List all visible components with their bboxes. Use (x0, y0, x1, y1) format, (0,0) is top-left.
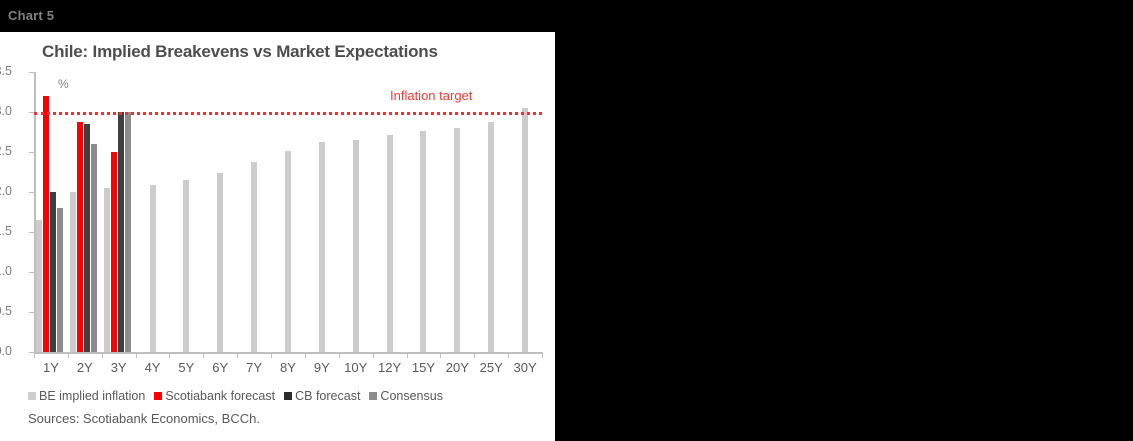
inflation-target-line (34, 112, 542, 115)
bar (111, 152, 117, 352)
bar (36, 220, 42, 352)
x-axis-tick (169, 352, 170, 358)
legend-item: Scotiabank forecast (154, 389, 275, 403)
x-axis-tick (68, 352, 69, 358)
y-axis-tick-label: 2.0 (0, 184, 12, 198)
legend-label: CB forecast (295, 389, 360, 403)
x-axis-tick-label: 9Y (305, 360, 339, 375)
x-axis-tick (440, 352, 441, 358)
y-axis-tick-label: 1.5 (0, 224, 12, 238)
x-axis-tick-label: 5Y (169, 360, 203, 375)
chart-panel: Chile: Implied Breakevens vs Market Expe… (0, 32, 555, 441)
bar (57, 208, 63, 352)
bar (91, 144, 97, 352)
legend-item: Consensus (369, 389, 443, 403)
x-axis-tick (407, 352, 408, 358)
y-axis-tick-label: 1.0 (0, 264, 12, 278)
figure-label: Chart 5 (8, 8, 54, 23)
x-axis-tick (373, 352, 374, 358)
legend-swatch-icon (369, 392, 377, 400)
y-axis-tick-label: 2.5 (0, 144, 12, 158)
bar (420, 131, 426, 352)
x-axis-tick (34, 352, 35, 358)
legend-item: BE implied inflation (28, 389, 145, 403)
x-axis-tick (508, 352, 509, 358)
x-axis-tick (271, 352, 272, 358)
x-axis-line (34, 352, 542, 354)
x-axis-tick-label: 25Y (474, 360, 508, 375)
bar (454, 128, 460, 352)
legend-label: Consensus (380, 389, 443, 403)
legend-label: Scotiabank forecast (165, 389, 275, 403)
x-axis-tick-label: 4Y (136, 360, 170, 375)
plot-area: 1Y2Y3Y4Y5Y6Y7Y8Y9Y10Y12Y15Y20Y25Y30Y (34, 72, 542, 352)
bar (70, 192, 76, 352)
y-axis-tick-label: 3.0 (0, 104, 12, 118)
inflation-target-annotation: Inflation target (390, 88, 472, 103)
bar (50, 192, 56, 352)
bar (43, 96, 49, 352)
x-axis-tick (102, 352, 103, 358)
legend-swatch-icon (28, 392, 36, 400)
x-axis-tick-label: 1Y (34, 360, 68, 375)
x-axis-tick-label: 6Y (203, 360, 237, 375)
bar (150, 185, 156, 352)
bar (319, 142, 325, 352)
legend-label: BE implied inflation (39, 389, 145, 403)
bar (125, 112, 131, 352)
x-axis-tick (136, 352, 137, 358)
legend-swatch-icon (284, 392, 292, 400)
x-axis-tick (339, 352, 340, 358)
bar (183, 180, 189, 352)
chart-title: Chile: Implied Breakevens vs Market Expe… (42, 42, 542, 62)
bar (522, 108, 528, 352)
chart-legend: BE implied inflationScotiabank forecastC… (28, 389, 548, 403)
source-note: Sources: Scotiabank Economics, BCCh. (28, 411, 260, 426)
x-axis-tick-label: 7Y (237, 360, 271, 375)
x-axis-tick (203, 352, 204, 358)
x-axis-tick-label: 12Y (373, 360, 407, 375)
bar (251, 162, 257, 352)
x-axis-tick-label: 20Y (440, 360, 474, 375)
x-axis-tick-label: 10Y (339, 360, 373, 375)
legend-item: CB forecast (284, 389, 360, 403)
bar (353, 140, 359, 352)
x-axis-tick-label: 8Y (271, 360, 305, 375)
x-axis-tick-label: 3Y (102, 360, 136, 375)
legend-swatch-icon (154, 392, 162, 400)
bar (84, 124, 90, 352)
x-axis-tick (237, 352, 238, 358)
x-axis-tick-label: 2Y (68, 360, 102, 375)
bar (118, 112, 124, 352)
x-axis-tick (305, 352, 306, 358)
bar (217, 173, 223, 352)
bar (104, 188, 110, 352)
x-axis-tick (542, 352, 543, 358)
bar (387, 135, 393, 352)
x-axis-tick-label: 15Y (407, 360, 441, 375)
bar (488, 122, 494, 352)
bar (77, 122, 83, 352)
x-axis-tick (474, 352, 475, 358)
y-axis-tick-label: 3.5 (0, 64, 12, 78)
y-axis-tick-label: 0.5 (0, 304, 12, 318)
y-axis-tick-label: 0.0 (0, 344, 12, 358)
bar (285, 151, 291, 352)
x-axis-tick-label: 30Y (508, 360, 542, 375)
